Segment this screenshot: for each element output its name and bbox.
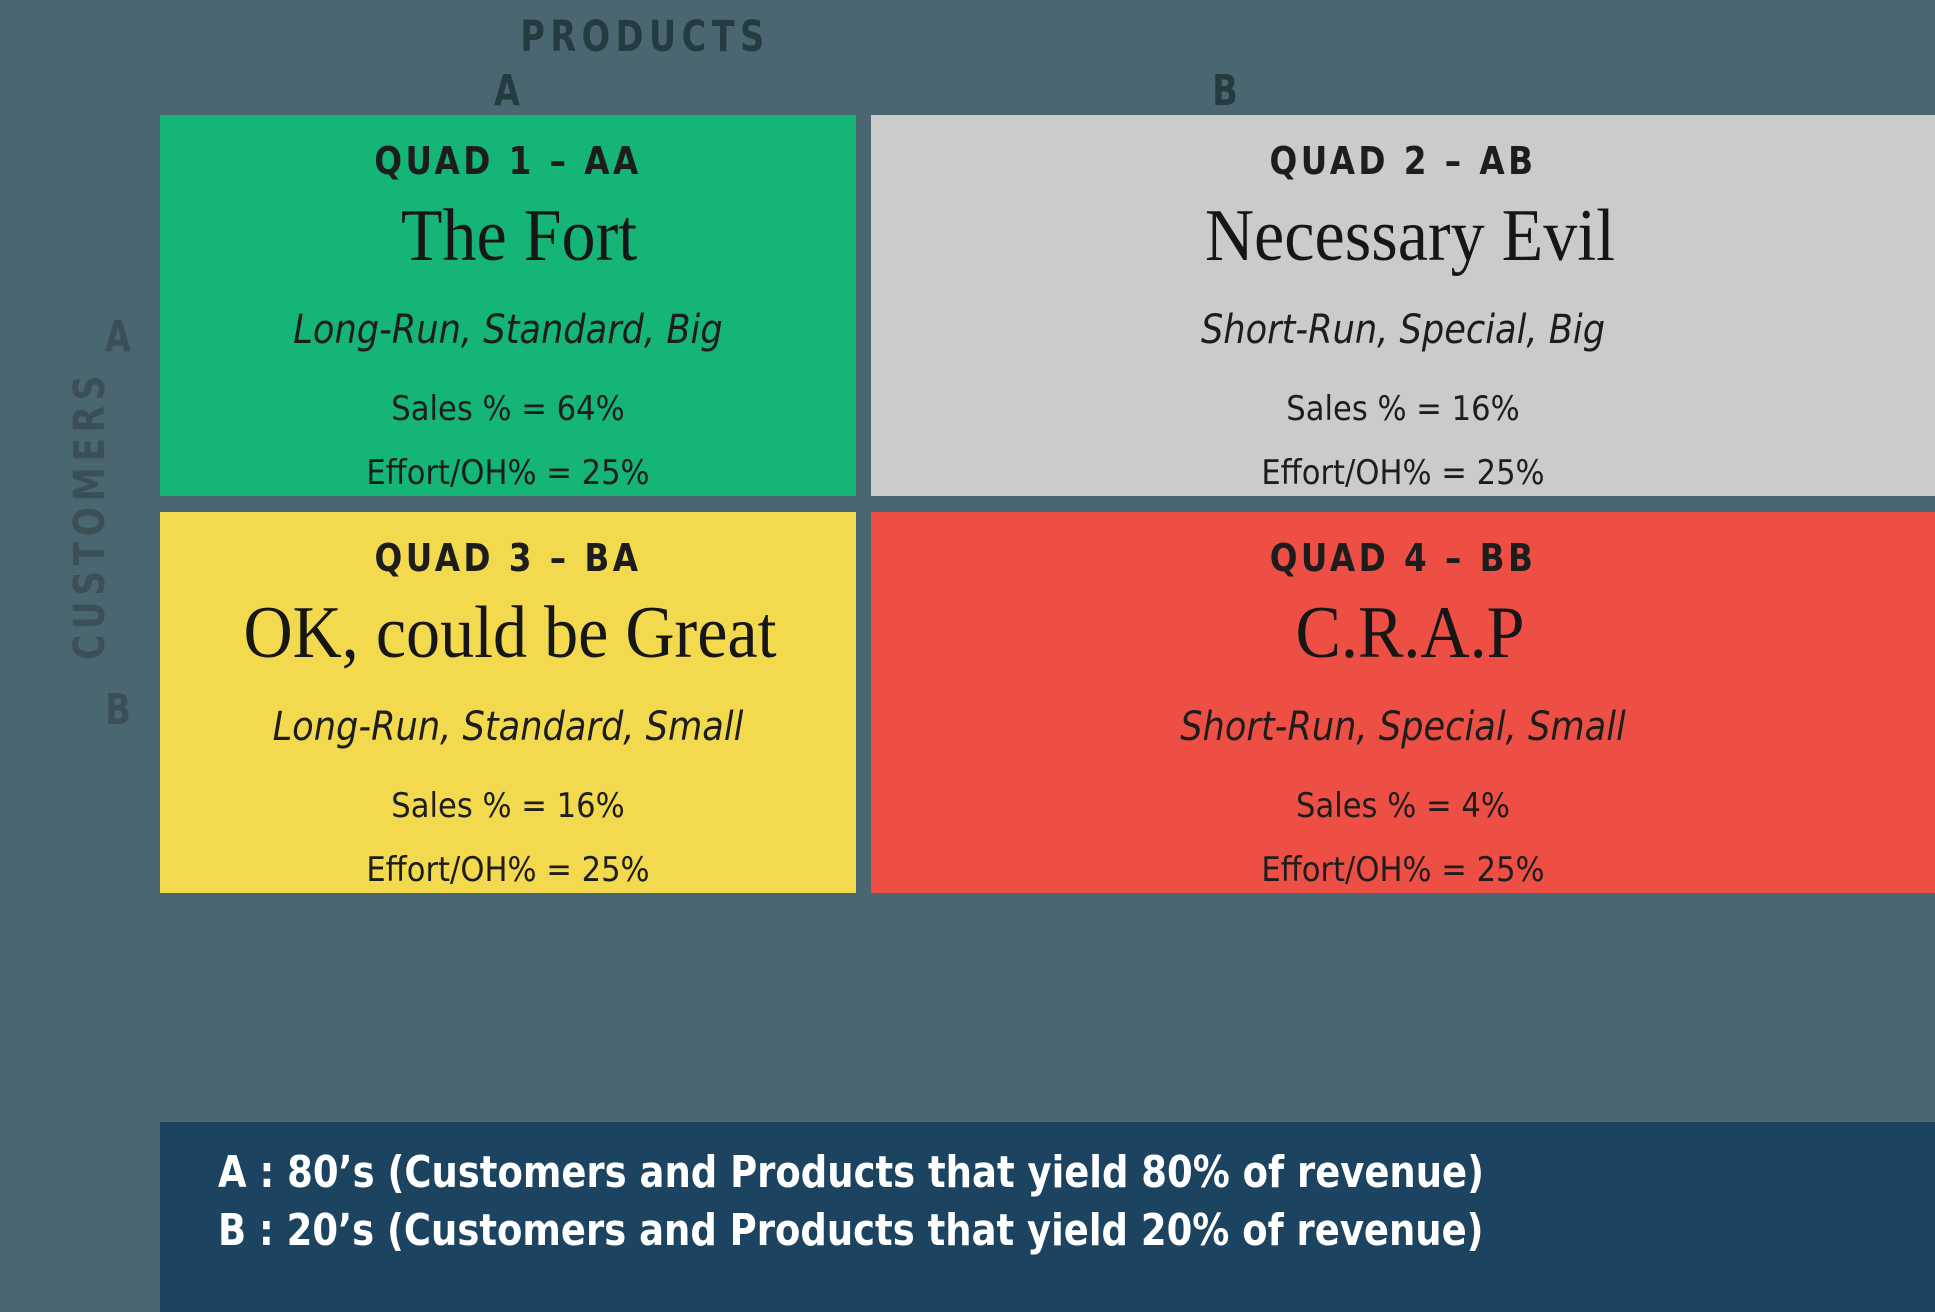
products-axis-title: PRODUCTS xyxy=(142,12,1148,62)
quadrant-effort-metric: Effort/OH% = 25% xyxy=(924,453,1882,493)
quadrant-sales-metric: Sales % = 4% xyxy=(924,786,1882,826)
quadrant-effort-metric: Effort/OH% = 25% xyxy=(195,850,821,890)
quadrant-sales-metric: Sales % = 64% xyxy=(195,389,821,429)
quadrant-title: OK, could be Great xyxy=(192,596,829,670)
quadrant-2-ab: QUAD 2 – AB Necessary Evil Short-Run, Sp… xyxy=(871,115,1935,496)
quadrant-title: Necessary Evil xyxy=(927,199,1893,273)
quadrant-sales-metric: Sales % = 16% xyxy=(924,389,1882,429)
column-label-b: B xyxy=(1202,66,1249,116)
legend-box: A : 80’s (Customers and Products that yi… xyxy=(160,1122,1935,1312)
row-label-a: A xyxy=(95,312,142,362)
quadrant-sales-metric: Sales % = 16% xyxy=(195,786,821,826)
quadrant-descriptor: Short-Run, Special, Small xyxy=(935,704,1871,750)
quadrant-descriptor: Long-Run, Standard, Big xyxy=(202,307,814,353)
column-label-a: A xyxy=(484,66,531,116)
quadrant-title: C.R.A.P xyxy=(927,596,1893,670)
quadrant-descriptor: Long-Run, Standard, Small xyxy=(202,704,814,750)
quadrant-4-bb: QUAD 4 – BB C.R.A.P Short-Run, Special, … xyxy=(871,512,1935,893)
quadrant-descriptor: Short-Run, Special, Big xyxy=(935,307,1871,353)
quadrant-label: QUAD 3 – BA xyxy=(209,536,808,580)
quadrant-title: The Fort xyxy=(209,199,829,273)
quadrant-effort-metric: Effort/OH% = 25% xyxy=(924,850,1882,890)
legend-line-b: B : 20’s (Customers and Products that yi… xyxy=(218,1202,1660,1260)
quadrant-3-ba: QUAD 3 – BA OK, could be Great Long-Run,… xyxy=(160,512,856,893)
legend-line-a: A : 80’s (Customers and Products that yi… xyxy=(218,1144,1660,1202)
quadrant-effort-metric: Effort/OH% = 25% xyxy=(195,453,821,493)
quadrant-label: QUAD 4 – BB xyxy=(945,536,1860,580)
row-label-b: B xyxy=(95,685,142,735)
quadrant-label: QUAD 2 – AB xyxy=(945,139,1860,183)
quadrant-1-aa: QUAD 1 – AA The Fort Long-Run, Standard,… xyxy=(160,115,856,496)
quadrant-label: QUAD 1 – AA xyxy=(209,139,808,183)
